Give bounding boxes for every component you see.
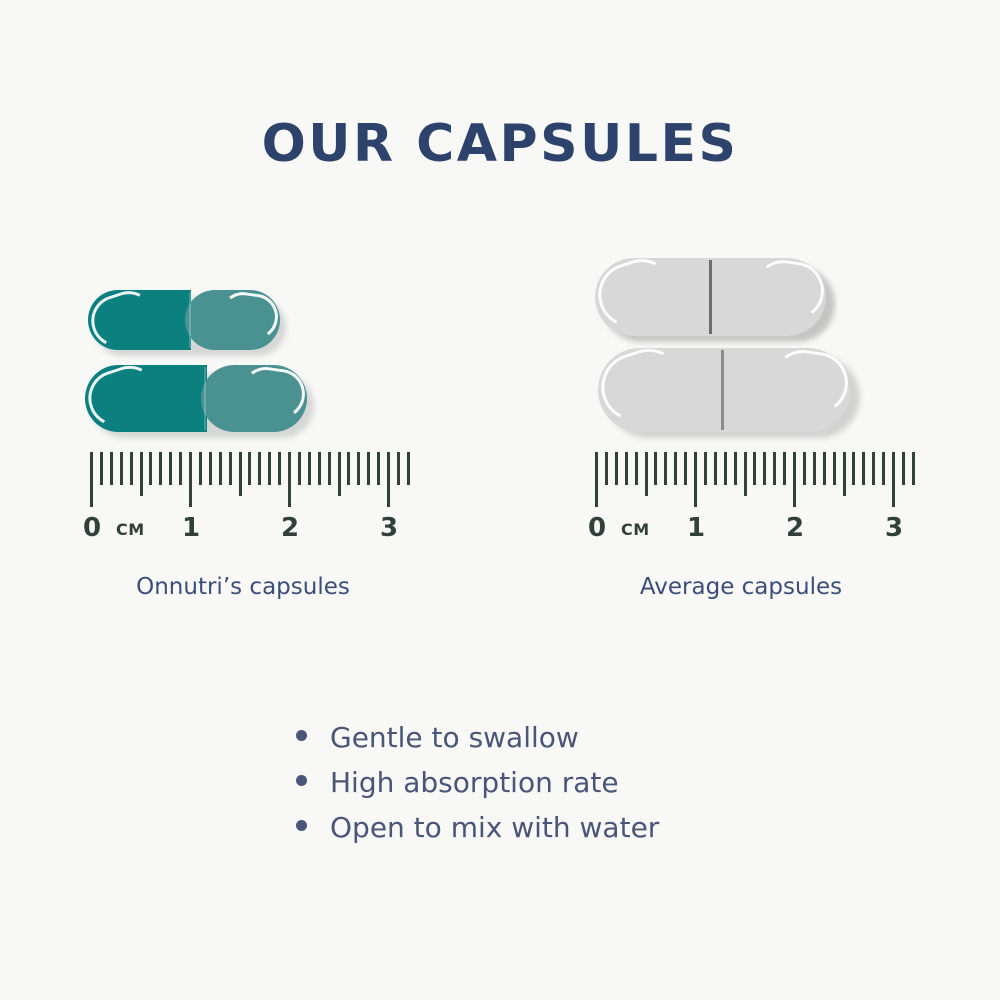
ruler-tick-minor: [833, 452, 836, 485]
ruler-tick-major: [793, 452, 796, 507]
ruler-tick-minor: [159, 452, 162, 485]
ruler-tick-minor: [654, 452, 657, 485]
ruler-tick-minor: [625, 452, 628, 485]
gray-capsule-bottom: [598, 348, 850, 432]
ruler-tick-minor: [367, 452, 370, 485]
ruler-tick-minor: [902, 452, 905, 485]
ruler-right: 0123CM: [595, 452, 925, 552]
teal-capsule-bottom: [85, 365, 307, 432]
ruler-tick-minor: [209, 452, 212, 485]
ruler-tick-minor: [258, 452, 261, 485]
ruler-tick-minor: [862, 452, 865, 485]
ruler-tick-minor: [615, 452, 618, 485]
ruler-tick-minor: [377, 452, 380, 485]
ruler-tick-minor: [714, 452, 717, 485]
ruler-tick-minor: [704, 452, 707, 485]
ruler-tick-minor: [149, 452, 152, 485]
ruler-tick-minor: [229, 452, 232, 485]
ruler-label-1: 1: [182, 515, 200, 541]
ruler-tick-minor: [664, 452, 667, 485]
ruler-tick-minor: [357, 452, 360, 485]
ruler-label-2: 2: [281, 515, 299, 541]
ruler-tick-major: [595, 452, 598, 507]
ruler-tick-minor: [763, 452, 766, 485]
ruler-label-2: 2: [786, 515, 804, 541]
list-item: Open to mix with water: [296, 812, 816, 844]
ruler-tick-minor: [110, 452, 113, 485]
ruler-tick-major: [90, 452, 93, 507]
ruler-label-0: 0: [588, 515, 606, 541]
ruler-tick-minor: [328, 452, 331, 485]
benefits-list: Gentle to swallow High absorption rate O…: [296, 722, 816, 858]
ruler-tick-minor: [724, 452, 727, 485]
average-capsule-illustration: [585, 250, 925, 622]
ruler-tick-minor: [684, 452, 687, 485]
ruler-tick-half: [239, 452, 242, 496]
teal-capsule-bottom-seam: [204, 367, 206, 430]
ruler-tick-minor: [120, 452, 123, 485]
ruler-tick-minor: [407, 452, 410, 485]
gray-capsule-top-seam: [709, 260, 712, 334]
ruler-label-1: 1: [687, 515, 705, 541]
teal-capsule-bottom-body: [85, 365, 207, 432]
caption-onnutri-capsules: Onnutri’s capsules: [33, 574, 453, 602]
ruler-tick-minor: [347, 452, 350, 485]
ruler-tick-half: [140, 452, 143, 496]
ruler-tick-minor: [803, 452, 806, 485]
ruler-tick-minor: [872, 452, 875, 485]
ruler-tick-minor: [674, 452, 677, 485]
benefit-label: Gentle to swallow: [330, 722, 579, 754]
ruler-tick-minor: [635, 452, 638, 485]
ruler-tick-major: [387, 452, 390, 507]
ruler-tick-half: [645, 452, 648, 496]
ruler-tick-minor: [308, 452, 311, 485]
ruler-label-3: 3: [885, 515, 903, 541]
benefit-label: High absorption rate: [330, 767, 619, 799]
ruler-tick-minor: [179, 452, 182, 485]
gray-capsule-top-gloss-left-icon: [590, 251, 682, 335]
ruler-tick-half: [843, 452, 846, 496]
ruler-tick-minor: [199, 452, 202, 485]
gray-capsule-bottom-gloss-left-icon: [593, 340, 692, 430]
teal-capsule-bottom-cap: [201, 365, 307, 432]
bullet-icon: [296, 730, 307, 741]
list-item: High absorption rate: [296, 767, 816, 799]
ruler-tick-minor: [100, 452, 103, 485]
teal-capsule-top: [88, 290, 280, 350]
gray-capsule-bottom-seam: [721, 350, 724, 430]
gray-capsule-top-gloss-right-icon: [750, 256, 827, 323]
ruler-tick-minor: [773, 452, 776, 485]
ruler-tick-minor: [318, 452, 321, 485]
ruler-tick-major: [288, 452, 291, 507]
teal-capsule-top-body: [88, 290, 191, 350]
list-item: Gentle to swallow: [296, 722, 816, 754]
ruler-tick-minor: [219, 452, 222, 485]
ruler-tick-minor: [397, 452, 400, 485]
ruler-tick-minor: [823, 452, 826, 485]
bullet-icon: [296, 775, 307, 786]
ruler-tick-minor: [882, 452, 885, 485]
ruler-tick-minor: [734, 452, 737, 485]
ruler-tick-half: [338, 452, 341, 496]
ruler-unit-label: CM: [621, 522, 650, 538]
ruler-tick-minor: [852, 452, 855, 485]
ruler-tick-minor: [605, 452, 608, 485]
ruler-tick-half: [744, 452, 747, 496]
ruler-tick-minor: [753, 452, 756, 485]
ruler-tick-minor: [813, 452, 816, 485]
capsule-comparison-graphic: OUR CAPSULES: [0, 0, 1000, 1000]
ruler-tick-minor: [268, 452, 271, 485]
ruler-tick-major: [892, 452, 895, 507]
caption-average-capsules: Average capsules: [531, 574, 951, 602]
ruler-tick-minor: [783, 452, 786, 485]
teal-capsule-top-seam: [189, 292, 191, 348]
ruler-tick-major: [189, 452, 192, 507]
ruler-tick-minor: [248, 452, 251, 485]
ruler-left: 0123CM: [90, 452, 420, 552]
bullet-icon: [296, 820, 307, 831]
teal-capsule-top-cap: [185, 290, 280, 350]
page-title: OUR CAPSULES: [0, 118, 1000, 170]
ruler-label-0: 0: [83, 515, 101, 541]
gray-capsule-bottom-gloss-right-icon: [768, 346, 852, 418]
ruler-tick-minor: [169, 452, 172, 485]
ruler-tick-minor: [298, 452, 301, 485]
ruler-tick-minor: [130, 452, 133, 485]
ruler-unit-label: CM: [116, 522, 145, 538]
ruler-tick-minor: [912, 452, 915, 485]
ruler-tick-minor: [278, 452, 281, 485]
ruler-tick-major: [694, 452, 697, 507]
gray-capsule-top: [595, 258, 826, 336]
benefit-label: Open to mix with water: [330, 812, 659, 844]
ruler-label-3: 3: [380, 515, 398, 541]
